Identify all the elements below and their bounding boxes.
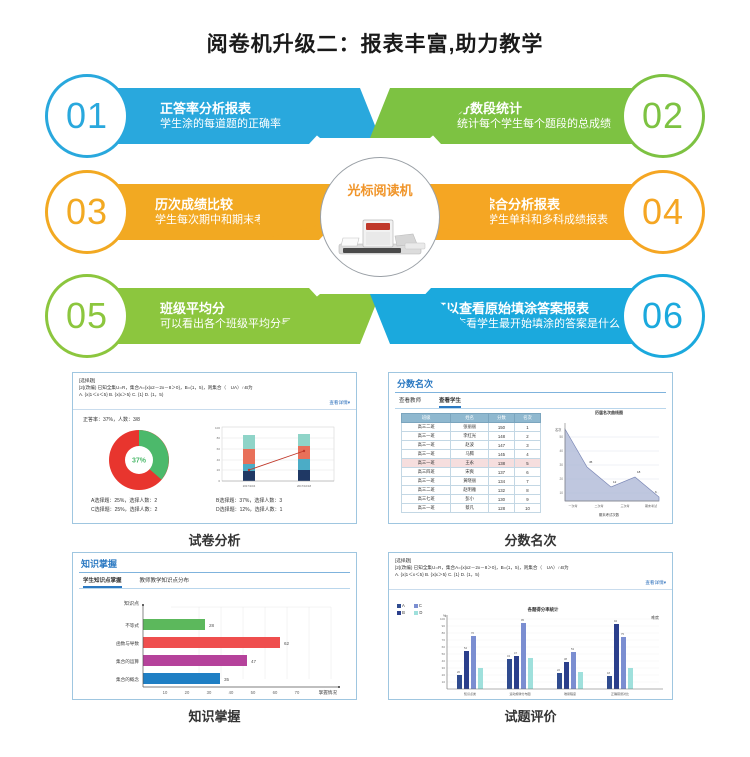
center-hub: 光标阅读机 [320,157,440,277]
caption-item-eval: 试题评价 [388,706,673,725]
point-label-2: 18 [637,470,641,474]
point-label-3: 6 [655,490,657,494]
table-row: 高三一班赵波1473 [402,441,541,450]
rank-th-name: 姓名 [451,414,489,423]
area-chart-title: 历届名次曲线图 [595,409,623,415]
cell-score: 148 [488,432,514,441]
svg-text:75: 75 [621,632,624,636]
cell-score: 145 [488,450,514,459]
table-row: 高三一班马腾1454 [402,450,541,459]
cell-class: 高三一班 [402,504,451,513]
cell-class: 高三一班 [402,432,451,441]
knowledge-tabs: 学生知识点掌握 教师教学知识点分布 [73,573,356,588]
svg-text:2017/10/4: 2017/10/4 [243,484,256,488]
svg-text:20: 20 [217,468,221,472]
cell-name: 彭小 [451,495,489,504]
option-stats-list: A选择题：25%，选择人数：2 B选择题：37%，选择人数：3 C选择题：25%… [91,497,341,514]
caption-score-rank: 分数名次 [388,530,673,549]
hbar-value-1: 62 [284,641,290,646]
svg-text:10: 10 [163,690,168,695]
tab-teacher-knowledge[interactable]: 教师教学知识点分布 [140,576,190,588]
grouped-bar-cat-2: 难易程度 [564,691,576,696]
cell-score: 150 [488,423,514,432]
feature-number-02: 02 [621,74,705,158]
tab-view-teacher[interactable]: 查看教师 [399,396,421,408]
cell-score: 134 [488,477,514,486]
rank-history-area-chart: 历届名次曲线图 名次 5040 3020 10 45 12 18 6 [547,405,667,520]
svg-text:60: 60 [217,447,221,451]
svg-text:50: 50 [442,652,446,656]
svg-text:90: 90 [442,624,446,628]
legend-label-c: C [419,603,422,608]
grouped-bar-cat-3: 正确错误对比 [611,691,629,696]
cell-name: 马腾 [451,450,489,459]
poster-root: 阅卷机升级二：报表丰富,助力教学 正答率分析报表 学生涂的每道题的正确率 01 … [0,0,750,757]
svg-text:43: 43 [507,654,510,658]
accuracy-donut-chart: 37% [95,425,183,495]
grouped-bar-cat-0: 知识点类 [464,691,476,696]
panel-item-eval[interactable]: [选择题] [2](改编) 已知全集U=R，集合A={x|x2－2x－8＞0}，… [388,552,673,700]
view-detail-link-1[interactable]: 查看详情▾ [79,398,350,406]
legend-label-b: B [402,610,405,615]
cell-name: 张丽丽 [451,423,489,432]
hub-label: 光标阅读机 [321,180,439,199]
svg-text:二次考: 二次考 [594,503,603,508]
svg-text:期末考试: 期末考试 [645,503,657,508]
cell-name: 王永 [451,459,489,468]
svg-text:95: 95 [521,618,524,622]
cell-class: 高三二班 [402,423,451,432]
question-line1-2: [2](改编) 已知全集U=R，集合A={x|x2－2x－8＞0}，B=(1，5… [395,564,666,571]
svg-text:40: 40 [442,659,446,663]
svg-text:70: 70 [295,690,300,695]
svg-text:60: 60 [273,690,278,695]
svg-text:三次考: 三次考 [620,503,629,508]
svg-text:30: 30 [442,666,446,670]
legend-label-a: A [402,603,405,608]
hbar-x-axis-label: 掌握情况 [319,689,338,696]
cell-class: 高三一班 [402,450,451,459]
svg-text:38: 38 [564,657,567,661]
cell-rank: 10 [514,504,540,513]
feature-number-01: 01 [45,74,129,158]
cell-rank: 6 [514,468,540,477]
question-tag-2: [选择题] [395,557,666,564]
legend-swatch-b [397,611,401,615]
item-eval-legend: A C B D [397,603,422,616]
feature-number-03: 03 [45,170,129,254]
table-row: 高三四班宋爽1376 [402,468,541,477]
svg-text:40: 40 [559,449,563,453]
svg-text:22: 22 [557,668,560,672]
view-detail-link-2[interactable]: 查看详情▾ [395,578,666,586]
option-stat-c: C选择题：25%，选择人数：2 [91,506,216,515]
scanner-device-icon [333,210,429,262]
cell-score: 128 [488,504,514,513]
hbar-0 [143,619,205,630]
table-row: 高三一班李红光1482 [402,432,541,441]
cell-rank: 7 [514,477,540,486]
table-row: 高三一班蔡凡12810 [402,504,541,513]
legend-swatch-c [414,604,418,608]
rank-th-class: 班级 [402,414,451,423]
tab-view-student[interactable]: 查看学生 [439,396,461,408]
cell-class: 高三一班 [402,459,451,468]
page-title: 阅卷机升级二：报表丰富,助力教学 [0,28,750,58]
knowledge-hbar-chart: 知识点 28 不等式 62 函数与导数 47 集合的运算 35 集合的概念 [81,593,351,697]
hbar-cat-0: 不等式 [125,622,139,629]
tabs-rule-3 [79,588,350,589]
rank-th-rank: 名次 [514,414,540,423]
svg-text:40: 40 [217,458,221,462]
cell-name: 赵波 [451,441,489,450]
feature-number-06: 06 [621,274,705,358]
cell-rank: 2 [514,432,540,441]
svg-text:20: 20 [457,670,460,674]
svg-text:0: 0 [218,479,220,483]
table-row: 高三一班黄晓丽1347 [402,477,541,486]
cell-score: 147 [488,441,514,450]
hbar-y-axis-label: 知识点 [124,600,139,607]
grouped-bar-cat-1: 运动规律分布图 [509,691,530,696]
cell-rank: 4 [514,450,540,459]
cell-rank: 9 [514,495,540,504]
svg-text:60: 60 [442,645,446,649]
svg-text:20: 20 [185,690,190,695]
cell-name: 蔡凡 [451,504,489,513]
rank-table[interactable]: 班级 姓名 分数 名次 高三二班张丽丽1501 高三一班李红光1482 高三一班… [401,413,541,513]
rank-th-score: 分数 [488,414,514,423]
panel-exam-analysis[interactable]: [选择题] [2](改编) 已知全集U=R，集合A={x|x2－2x－8＞0}，… [72,372,357,524]
feature-banner: 正答率分析报表 学生涂的每道题的正确率 01 分数段统计 统计每个学生每个题段的… [0,80,750,355]
hbar-3 [143,673,220,684]
cell-rank: 5 [514,459,540,468]
option-stat-b: B选择题：37%，选择人数：3 [216,497,341,506]
legend-label-d: D [419,610,422,615]
question-line1-1: [2](改编) 已知全集U=R，集合A={x|x2－2x－8＞0}，B=(1，5… [79,384,350,391]
point-label-0: 45 [589,460,593,464]
knowledge-heading: 知识掌握 [73,553,356,572]
panel-knowledge[interactable]: 知识掌握 学生知识点掌握 教师教学知识点分布 知识点 28 不等式 62 函数与… [72,552,357,700]
svg-text:50: 50 [251,690,256,695]
cell-class: 高三七班 [402,495,451,504]
cell-name: 李红光 [451,432,489,441]
svg-text:18: 18 [607,671,610,675]
svg-text:47: 47 [514,651,517,655]
donut-center-label: 37% [132,458,147,465]
option-stat-a: A选择题：25%，选择人数：2 [91,497,216,506]
svg-text:70: 70 [442,638,446,642]
cell-score: 132 [488,486,514,495]
cell-rank: 8 [514,486,540,495]
accuracy-text: 正答率：37%，人数：3/8 [73,410,356,423]
svg-text:一次考: 一次考 [568,503,577,508]
panel-score-rank[interactable]: 分数名次 查看教师 查看学生 班级 姓名 分数 名次 高三二班张丽丽1501 高… [388,372,673,524]
cell-score: 137 [488,468,514,477]
cell-rank: 3 [514,441,540,450]
grouped-bar-title: 各题得分率统计 [527,606,559,613]
caption-exam-analysis: 试卷分析 [72,530,357,549]
svg-text:10: 10 [559,491,563,495]
hbar-2 [143,655,247,666]
table-row: 高三七班彭小1309 [402,495,541,504]
svg-text:30: 30 [207,690,212,695]
question-line2-2: A. {x|1＜x＜5} B. {x|x＞5} C. {1} D. (1，5) [395,571,666,578]
rank-table-header-row: 班级 姓名 分数 名次 [402,414,541,423]
item-eval-grouped-bar-chart: 各题得分率统计 难度 % 10090 8070 6050 4030 2010 2… [423,601,671,697]
svg-text:30: 30 [559,463,563,467]
point-label-1: 12 [613,480,617,484]
cell-rank: 1 [514,423,540,432]
legend-swatch-d [414,611,418,615]
svg-text:94: 94 [614,619,617,623]
cell-class: 高三二班 [402,486,451,495]
svg-text:2017/10/18: 2017/10/18 [297,484,311,488]
question-header-1: [选择题] [2](改编) 已知全集U=R，集合A={x|x2－2x－8＞0}，… [73,373,356,410]
svg-text:100: 100 [215,426,220,430]
question-tag-1: [选择题] [79,377,350,384]
cell-score: 130 [488,495,514,504]
cell-class: 高三一班 [402,477,451,486]
table-row-highlighted: 高三一班王永1385 [402,459,541,468]
table-row: 高三二班张丽丽1501 [402,423,541,432]
svg-text:80: 80 [217,436,221,440]
hbar-1 [143,637,280,648]
hbar-value-2: 47 [251,659,257,664]
svg-text:54: 54 [464,646,467,650]
trend-bar-chart: 10080 6040 200 2017/10/4 2017/10/18 [208,425,338,495]
area-y-axis-label: 名次 [555,427,562,432]
cell-name: 宋爽 [451,468,489,477]
svg-text:20: 20 [559,477,563,481]
svg-text:20: 20 [442,673,446,677]
question-line2-1: A. {x|1＜x＜5} B. {x|x＞5} C. {1} D. (1，5) [79,391,350,398]
svg-text:100: 100 [440,617,445,621]
svg-text:53: 53 [571,647,574,651]
hbar-value-0: 28 [209,623,215,628]
tab-student-knowledge[interactable]: 学生知识点掌握 [83,576,122,588]
hbar-cat-2: 集合的运算 [116,658,139,665]
feature-number-05: 05 [45,274,129,358]
score-rank-heading: 分数名次 [389,373,672,392]
caption-knowledge: 知识掌握 [72,706,357,725]
hbar-cat-1: 函数与导数 [116,640,139,647]
legend-swatch-a [397,604,401,608]
hbar-cat-3: 集合的概念 [116,676,139,683]
cell-name: 黄晓丽 [451,477,489,486]
rank-table-body: 高三二班张丽丽1501 高三一班李红光1482 高三一班赵波1473 高三一班马… [402,423,541,513]
svg-text:40: 40 [229,690,234,695]
cell-class: 高三一班 [402,441,451,450]
hbar-value-3: 35 [224,677,230,682]
svg-text:10: 10 [442,680,446,684]
feature-number-04: 04 [621,170,705,254]
option-stat-d: D选择题：12%，选择人数：1 [216,506,341,515]
cell-score: 138 [488,459,514,468]
cell-class: 高三四班 [402,468,451,477]
area-x-axis-label: 期末考试次数 [599,512,620,517]
svg-text:80: 80 [442,631,446,635]
question-header-2: [选择题] [2](改编) 已知全集U=R，集合A={x|x2－2x－8＞0}，… [389,553,672,590]
svg-text:50: 50 [559,435,563,439]
table-row: 高三二班赵明雅1328 [402,486,541,495]
cell-name: 赵明雅 [451,486,489,495]
